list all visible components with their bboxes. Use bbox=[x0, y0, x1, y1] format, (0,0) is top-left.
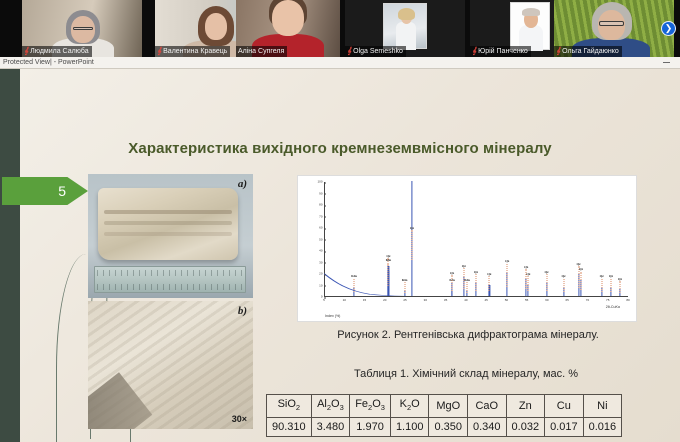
participant-tile-active-speaker[interactable]: Аліна Супгеля bbox=[236, 0, 340, 57]
x-axis bbox=[324, 296, 628, 297]
participant-namebar: 𝄞 Валентина Кравець bbox=[155, 46, 230, 57]
peak-label: Qz bbox=[474, 271, 478, 274]
table-cell-cu: 0.017 bbox=[545, 418, 584, 437]
y-tick-label: 70 bbox=[319, 215, 324, 218]
peak-marker bbox=[507, 264, 508, 288]
participant-tile[interactable]: 𝄞 Ольга Гайдаюнко bbox=[554, 0, 674, 57]
table-header-mgo: MgO bbox=[429, 395, 468, 418]
powerpoint-window: Protected View| - PowerPoint Характерист… bbox=[0, 57, 680, 442]
peak-marker bbox=[546, 274, 547, 291]
magnification-label: 30× bbox=[232, 414, 247, 424]
mineral-photo-macro: a) bbox=[88, 174, 253, 298]
y-tick-label: 80 bbox=[319, 204, 324, 207]
person-face bbox=[205, 13, 227, 40]
peak-marker bbox=[452, 275, 453, 291]
y-tick-label: 20 bbox=[319, 273, 324, 276]
glasses-icon bbox=[599, 21, 624, 26]
participant-name: Людмила Салюба bbox=[30, 47, 89, 56]
peak-marker bbox=[388, 258, 389, 286]
peak-label: Kln bbox=[464, 279, 469, 282]
peak-marker bbox=[601, 279, 602, 292]
peak-marker bbox=[411, 230, 412, 260]
powerpoint-titlebar: Protected View| - PowerPoint bbox=[0, 57, 680, 69]
peak-marker bbox=[619, 281, 620, 293]
peak-label: Qz bbox=[524, 266, 528, 269]
slide-canvas: Характеристика вихідного кремнеземвмісно… bbox=[0, 69, 680, 442]
table-header-sio2: SiO2 bbox=[267, 395, 312, 418]
xrd-plot-area: 0102030405060708090100510152025303540455… bbox=[324, 182, 628, 297]
table-cell-fe2o3: 1.970 bbox=[350, 418, 391, 437]
figure-2: 0102030405060708090100510152025303540455… bbox=[297, 175, 637, 322]
peak-label: Qz bbox=[561, 275, 565, 278]
participant-name: Ольга Гайдаюнко bbox=[562, 47, 619, 56]
y-tick-label: 50 bbox=[319, 238, 324, 241]
window-title: Protected View| - PowerPoint bbox=[3, 58, 94, 68]
table-cell-mgo: 0.350 bbox=[429, 418, 468, 437]
x-tick-label: 70 bbox=[586, 297, 589, 302]
peak-label: Qz bbox=[487, 273, 491, 276]
x-tick-label: 5 bbox=[323, 297, 325, 302]
background-curve bbox=[324, 271, 415, 296]
person-face bbox=[272, 0, 304, 36]
peak-label: Qz bbox=[544, 271, 548, 274]
peak-marker bbox=[476, 274, 477, 291]
table-cell-ni: 0.016 bbox=[583, 418, 622, 437]
y-tick-label: 60 bbox=[319, 227, 324, 230]
peak-label: Qz bbox=[526, 273, 530, 276]
slide-title: Характеристика вихідного кремнеземвмісно… bbox=[60, 139, 620, 159]
y-tick-label: 40 bbox=[319, 250, 324, 253]
mineral-sample bbox=[98, 188, 238, 260]
ruler bbox=[94, 266, 246, 293]
figure-1: a) b) 30× bbox=[88, 174, 253, 429]
panel-b-label: b) bbox=[238, 305, 247, 317]
participant-namebar: 𝄞 Olga Semeshko bbox=[345, 46, 406, 57]
peak-label: Kln bbox=[402, 279, 407, 282]
peak-label: Qz bbox=[618, 278, 622, 281]
peak-marker bbox=[353, 279, 354, 292]
x-tick-label: 30 bbox=[424, 297, 427, 302]
participant-namebar: 𝄞 Людмила Салюба bbox=[22, 46, 92, 57]
table-1-caption: Таблиця 1. Хімічний склад мінералу, мас.… bbox=[266, 367, 666, 382]
micro-shadow bbox=[88, 372, 152, 429]
x-tick-label: 80 bbox=[626, 297, 629, 302]
table-header-ni: Ni bbox=[583, 395, 622, 418]
table-cell-k2o: 1.100 bbox=[390, 418, 429, 437]
table-header-row: SiO2Al2O3Fe2O3K2OMgOCaOZnCuNi bbox=[267, 395, 622, 418]
slide-left-bar bbox=[0, 69, 20, 442]
video-participant-strip: 𝄞 Людмила Салюба 𝄞 Валентина Кравець bbox=[0, 0, 680, 57]
peak-label: Qz bbox=[386, 255, 390, 258]
mic-muted-icon: 𝄞 bbox=[472, 48, 476, 55]
mic-muted-icon: 𝄞 bbox=[347, 48, 351, 55]
chevron-right-icon[interactable]: ❯ bbox=[661, 21, 676, 36]
mic-muted-icon: 𝄞 bbox=[556, 48, 560, 55]
peak-label: Qz bbox=[609, 275, 613, 278]
peak-marker bbox=[580, 272, 581, 290]
peak-label: Qz bbox=[450, 272, 454, 275]
peak-label: Kln bbox=[351, 275, 356, 278]
mineral-photo-micro: b) 30× bbox=[88, 301, 253, 429]
x-tick-label: 45 bbox=[484, 297, 487, 302]
table-cell-al2o3: 3.480 bbox=[311, 418, 350, 437]
x-tick-label: 35 bbox=[444, 297, 447, 302]
peak-label: Qz bbox=[505, 260, 509, 263]
x-axis-label: 2θ-CuKα bbox=[606, 305, 620, 309]
table-cell-zn: 0.032 bbox=[506, 418, 545, 437]
participant-name: Валентина Кравець bbox=[163, 47, 227, 56]
panel-a-label: a) bbox=[238, 178, 247, 190]
xrd-diffractogram: 0102030405060708090100510152025303540455… bbox=[297, 175, 637, 322]
participant-photo bbox=[510, 2, 550, 50]
y-tick-label: 90 bbox=[319, 192, 324, 195]
y-tick-label: 30 bbox=[319, 261, 324, 264]
table-cell-sio2: 90.310 bbox=[267, 418, 312, 437]
y-tick-label: 10 bbox=[319, 284, 324, 287]
table-header-zn: Zn bbox=[506, 395, 545, 418]
minimize-icon[interactable] bbox=[663, 62, 670, 63]
y-axis-label: Index (%) bbox=[325, 314, 340, 318]
mic-muted-icon: 𝄞 bbox=[24, 48, 28, 55]
x-tick-label: 20 bbox=[383, 297, 386, 302]
peak-label: Qz bbox=[576, 263, 580, 266]
y-tick-label: 100 bbox=[317, 181, 324, 184]
peak-marker bbox=[528, 276, 529, 291]
table-cell-cao: 0.340 bbox=[468, 418, 507, 437]
chemical-composition-table: SiO2Al2O3Fe2O3K2OMgOCaOZnCuNi 90.3103.48… bbox=[266, 394, 622, 437]
glasses-icon bbox=[73, 27, 93, 30]
x-tick-label: 60 bbox=[545, 297, 548, 302]
x-tick-label: 40 bbox=[464, 297, 467, 302]
table-header-cao: CaO bbox=[468, 395, 507, 418]
table-header-k2o: K2O bbox=[390, 395, 429, 418]
participant-tile[interactable]: 𝄞 Людмила Салюба bbox=[22, 0, 142, 57]
mic-muted-icon: 𝄞 bbox=[157, 48, 161, 55]
peak-label: Qz bbox=[410, 227, 414, 230]
x-tick-label: 55 bbox=[525, 297, 528, 302]
screen: 𝄞 Людмила Салюба 𝄞 Валентина Кравець bbox=[0, 0, 680, 442]
participant-name: Юрій Панченко bbox=[478, 47, 528, 56]
peak-label: Qz bbox=[462, 265, 466, 268]
x-tick-label: 10 bbox=[343, 297, 346, 302]
x-tick-label: 25 bbox=[403, 297, 406, 302]
table-row: 90.3103.4801.9701.1000.3500.3400.0320.01… bbox=[267, 418, 622, 437]
peak-marker bbox=[489, 276, 490, 291]
peak-label: Qz bbox=[579, 268, 583, 271]
x-tick-label: 50 bbox=[505, 297, 508, 302]
table-header-fe2o3: Fe2O3 bbox=[350, 395, 391, 418]
participant-namebar: 𝄞 Ольга Гайдаюнко bbox=[554, 46, 622, 57]
participant-namebar: Аліна Супгеля bbox=[236, 46, 287, 57]
table-header-cu: Cu bbox=[545, 395, 584, 418]
participant-namebar: 𝄞 Юрій Панченко bbox=[470, 46, 531, 57]
x-tick-label: 65 bbox=[566, 297, 569, 302]
participant-name: Аліна Супгеля bbox=[238, 47, 284, 56]
participant-tile[interactable]: 𝄞 Olga Semeshko bbox=[345, 0, 465, 57]
participant-name: Olga Semeshko bbox=[353, 47, 403, 56]
peak-marker bbox=[563, 279, 564, 292]
x-tick-label: 15 bbox=[363, 297, 366, 302]
peak-marker bbox=[404, 282, 405, 293]
peak-label: Qz bbox=[600, 275, 604, 278]
x-tick-label: 75 bbox=[606, 297, 609, 302]
table-header-al2o3: Al2O3 bbox=[311, 395, 350, 418]
peak-marker bbox=[467, 282, 468, 293]
figure-2-caption: Рисунок 2. Рентгенівська дифрактограма м… bbox=[268, 328, 668, 343]
participant-photo bbox=[383, 3, 427, 49]
peak-marker bbox=[610, 279, 611, 292]
